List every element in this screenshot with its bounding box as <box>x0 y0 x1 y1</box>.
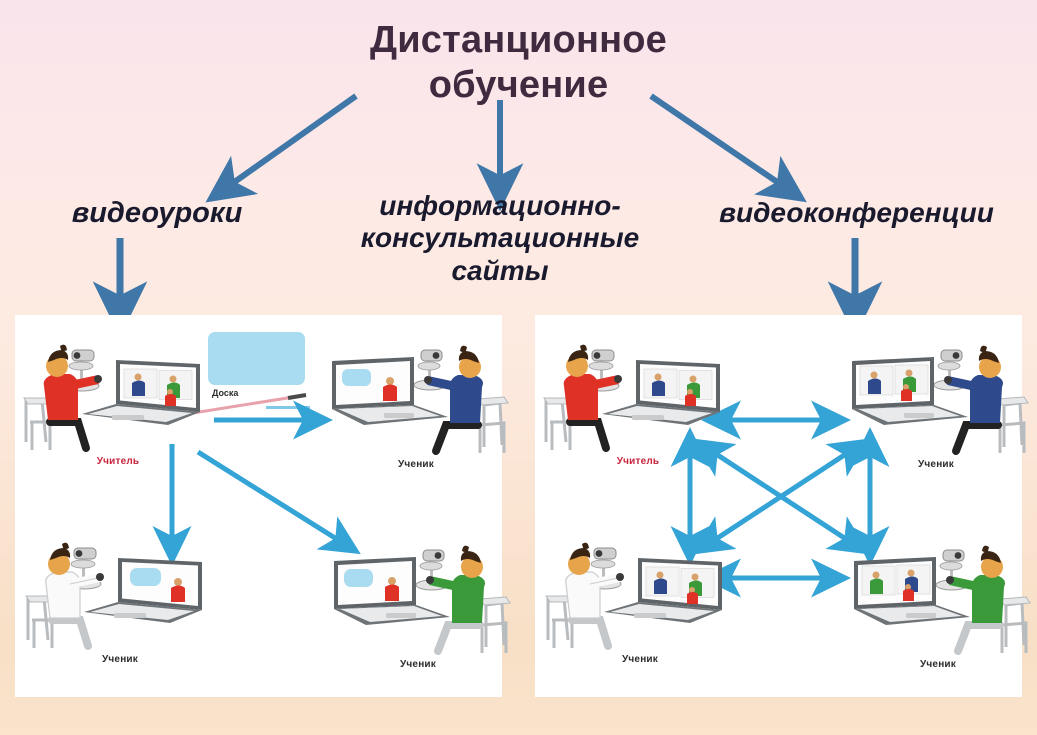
workstation-illustration <box>20 330 216 456</box>
laptop-icon <box>84 558 202 623</box>
workstation-illustration <box>318 333 514 459</box>
page-title-line-2: обучение <box>0 63 1037 108</box>
laptop-icon <box>602 360 720 425</box>
workstation-student1-lessons: Ученик <box>318 333 514 483</box>
node-label-teacher: Учитель <box>20 456 216 467</box>
node-label-student: Ученик <box>22 654 218 665</box>
branch-label-videolessons: видеоуроки <box>22 197 292 231</box>
person-figure <box>946 546 1030 653</box>
laptop-icon <box>82 360 200 425</box>
workstation-student2-lessons: Ученик <box>22 528 218 678</box>
workstation-illustration <box>838 333 1034 459</box>
workstation-student3-conf: Ученик <box>840 533 1036 683</box>
person-figure <box>424 346 508 453</box>
workstation-illustration <box>22 528 218 654</box>
person-figure <box>944 346 1028 453</box>
workstation-student2-conf: Ученик <box>542 528 738 678</box>
workstation-illustration <box>540 330 736 456</box>
person-figure <box>426 546 510 653</box>
node-label-student: Ученик <box>840 659 1036 670</box>
workstation-student3-lessons: Ученик <box>320 533 516 683</box>
branch-label-info-sites-line-1: информационно- <box>310 190 690 222</box>
whiteboard-underline <box>266 406 310 409</box>
page-title-line-1: Дистанционное <box>0 18 1037 63</box>
node-label-student: Ученик <box>318 459 514 470</box>
branch-label-info-sites: информационно- консультационные сайты <box>310 190 690 287</box>
workstation-student1-conf: Ученик <box>838 333 1034 483</box>
workstation-teacher-lessons: Учитель <box>20 330 216 480</box>
workstation-illustration <box>840 533 1036 659</box>
workstation-illustration <box>542 528 738 654</box>
whiteboard <box>208 332 305 385</box>
branch-label-videoconferences: видеоконференции <box>676 197 1037 229</box>
node-label-student: Ученик <box>542 654 738 665</box>
branch-label-info-sites-line-3: сайты <box>310 255 690 287</box>
arrow-title-to-videolessons <box>226 96 356 188</box>
node-label-teacher: Учитель <box>540 456 736 467</box>
page-title: Дистанционное обучение <box>0 18 1037 108</box>
node-label-student: Ученик <box>320 659 516 670</box>
diagram-canvas: Дистанционное обучение <box>0 0 1037 735</box>
workstation-teacher-conf: Учитель <box>540 330 736 480</box>
arrow-title-to-videoconferences <box>651 96 786 188</box>
branch-label-info-sites-line-2: консультационные <box>310 222 690 254</box>
node-label-student: Ученик <box>838 459 1034 470</box>
workstation-illustration <box>320 533 516 659</box>
laptop-icon <box>604 558 722 623</box>
